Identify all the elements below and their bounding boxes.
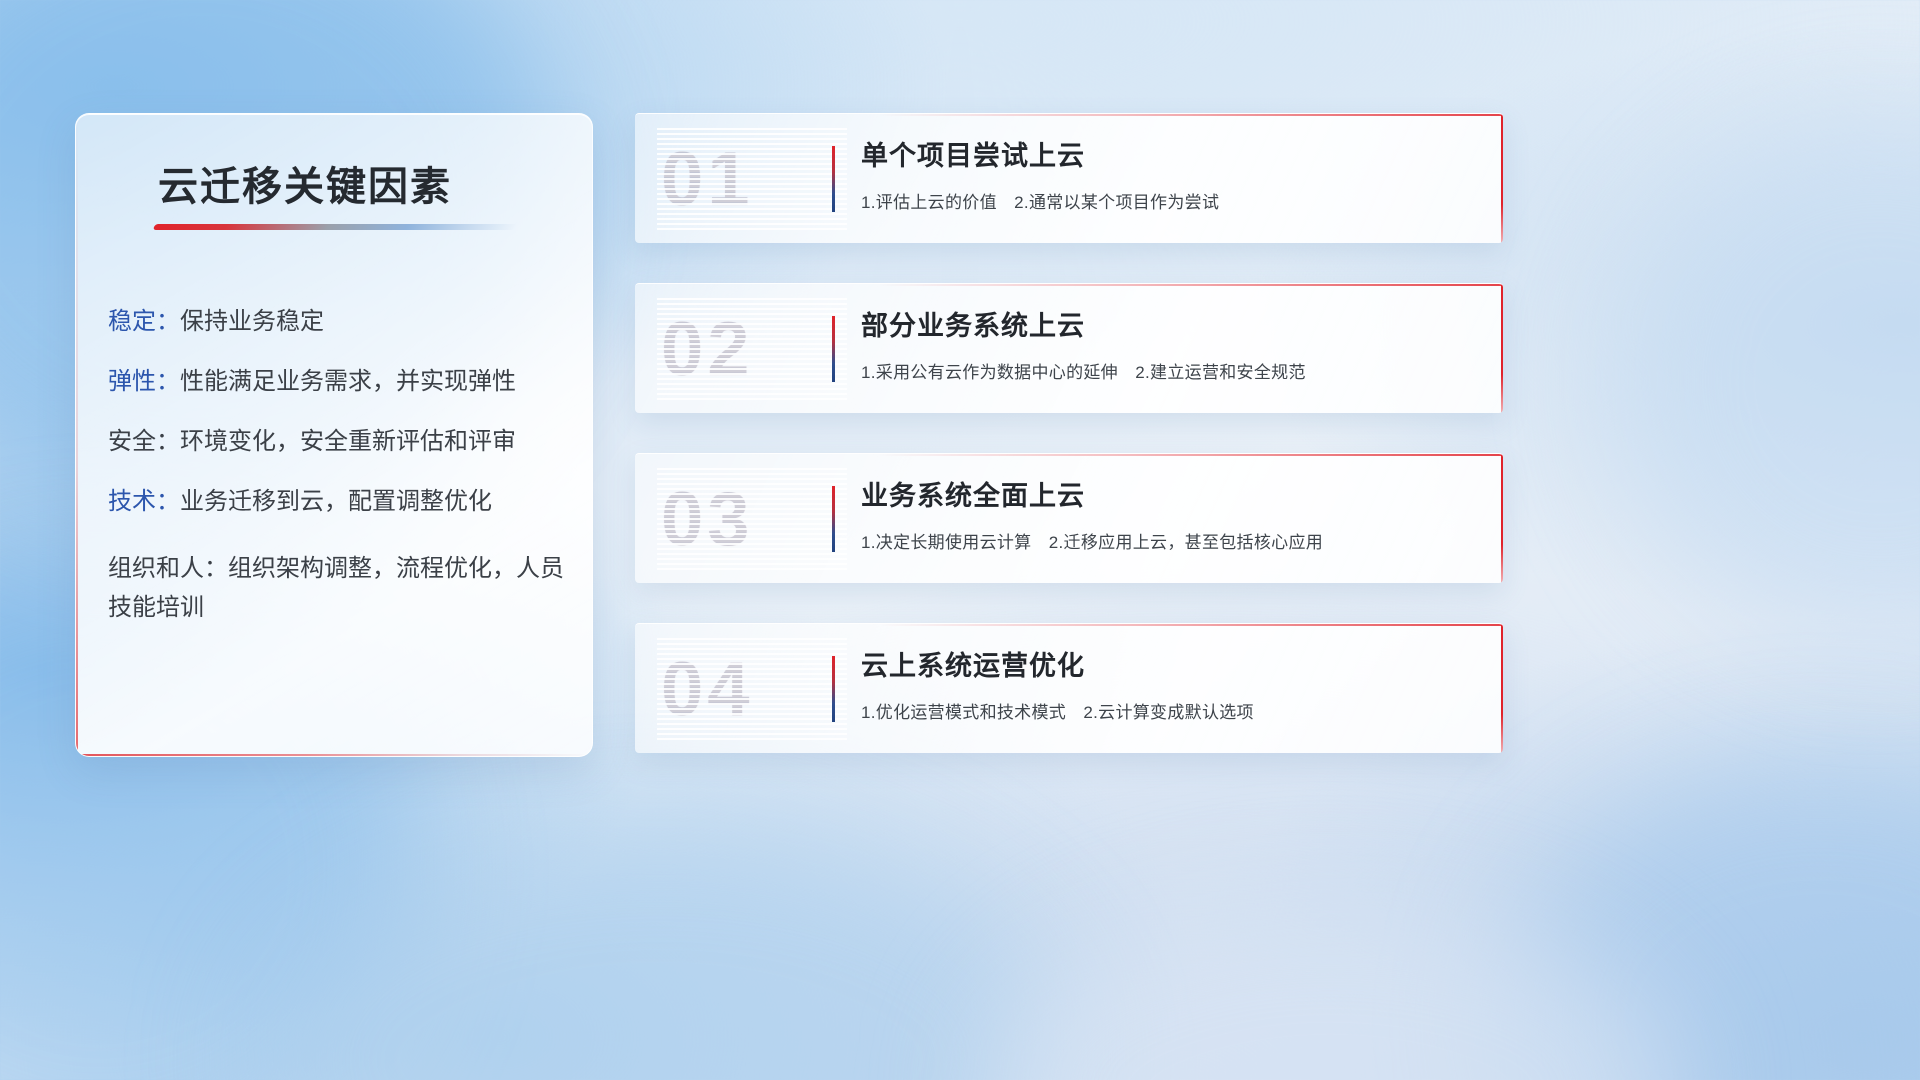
stage-card-03[interactable]: 03业务系统全面上云1.决定长期使用云计算 2.迁移应用上云，甚至包括核心应用	[635, 453, 1503, 583]
stage-number: 02	[661, 300, 754, 400]
stage-title: 云上系统运营优化	[861, 650, 1475, 684]
stage-number: 03	[661, 470, 754, 570]
key-factor-value: 环境变化，安全重新评估和评审	[180, 428, 516, 455]
key-factor-row: 稳定：保持业务稳定	[108, 310, 568, 334]
key-factor-label: 技术：	[108, 488, 180, 515]
stage-text-block: 单个项目尝试上云1.评估上云的价值 2.通常以某个项目作为尝试	[861, 140, 1475, 213]
key-factor-row: 弹性：性能满足业务需求，并实现弹性	[108, 370, 568, 394]
stage-number: 04	[661, 640, 754, 740]
stage-text-block: 部分业务系统上云1.采用公有云作为数据中心的延伸 2.建立运营和安全规范	[861, 310, 1475, 383]
key-factor-label: 安全：	[108, 428, 180, 455]
key-factor-row: 组织和人：组织架构调整，流程优化，人员技能培训	[108, 550, 568, 628]
stage-text-block: 云上系统运营优化1.优化运营模式和技术模式 2.云计算变成默认选项	[861, 650, 1475, 723]
stage-card-01[interactable]: 01单个项目尝试上云1.评估上云的价值 2.通常以某个项目作为尝试	[635, 113, 1503, 243]
stage-card-02[interactable]: 02部分业务系统上云1.采用公有云作为数据中心的延伸 2.建立运营和安全规范	[635, 283, 1503, 413]
stage-description: 1.决定长期使用云计算 2.迁移应用上云，甚至包括核心应用	[861, 528, 1475, 553]
page-title: 云迁移关键因素	[158, 154, 452, 212]
key-factor-label: 弹性：	[108, 368, 180, 395]
key-factor-value: 性能满足业务需求，并实现弹性	[180, 368, 516, 395]
stage-divider-accent	[832, 486, 835, 552]
key-factors-list: 稳定：保持业务稳定弹性：性能满足业务需求，并实现弹性安全：环境变化，安全重新评估…	[108, 310, 568, 664]
key-factors-panel: 云迁移关键因素 稳定：保持业务稳定弹性：性能满足业务需求，并实现弹性安全：环境变…	[75, 113, 593, 757]
key-factor-row: 技术：业务迁移到云，配置调整优化	[108, 490, 568, 514]
migration-stages-list: 01单个项目尝试上云1.评估上云的价值 2.通常以某个项目作为尝试02部分业务系…	[635, 113, 1503, 793]
key-factor-value: 业务迁移到云，配置调整优化	[180, 488, 492, 515]
stage-number: 01	[661, 130, 754, 230]
stage-text-block: 业务系统全面上云1.决定长期使用云计算 2.迁移应用上云，甚至包括核心应用	[861, 480, 1475, 553]
key-factor-label: 组织和人：	[108, 555, 228, 582]
stage-divider-accent	[832, 146, 835, 212]
stage-title: 部分业务系统上云	[861, 310, 1475, 344]
stage-description: 1.优化运营模式和技术模式 2.云计算变成默认选项	[861, 698, 1475, 723]
key-factor-value: 保持业务稳定	[180, 308, 324, 335]
slide-stage: 云迁移关键因素 稳定：保持业务稳定弹性：性能满足业务需求，并实现弹性安全：环境变…	[0, 0, 1920, 1080]
stage-divider-accent	[832, 656, 835, 722]
key-factor-label: 稳定：	[108, 308, 180, 335]
stage-description: 1.采用公有云作为数据中心的延伸 2.建立运营和安全规范	[861, 358, 1475, 383]
stage-title: 业务系统全面上云	[861, 480, 1475, 514]
stage-title: 单个项目尝试上云	[861, 140, 1475, 174]
key-factor-row: 安全：环境变化，安全重新评估和评审	[108, 430, 568, 454]
stage-divider-accent	[832, 316, 835, 382]
stage-description: 1.评估上云的价值 2.通常以某个项目作为尝试	[861, 188, 1475, 213]
stage-card-04[interactable]: 04云上系统运营优化1.优化运营模式和技术模式 2.云计算变成默认选项	[635, 623, 1503, 753]
title-underline-accent	[153, 224, 517, 230]
